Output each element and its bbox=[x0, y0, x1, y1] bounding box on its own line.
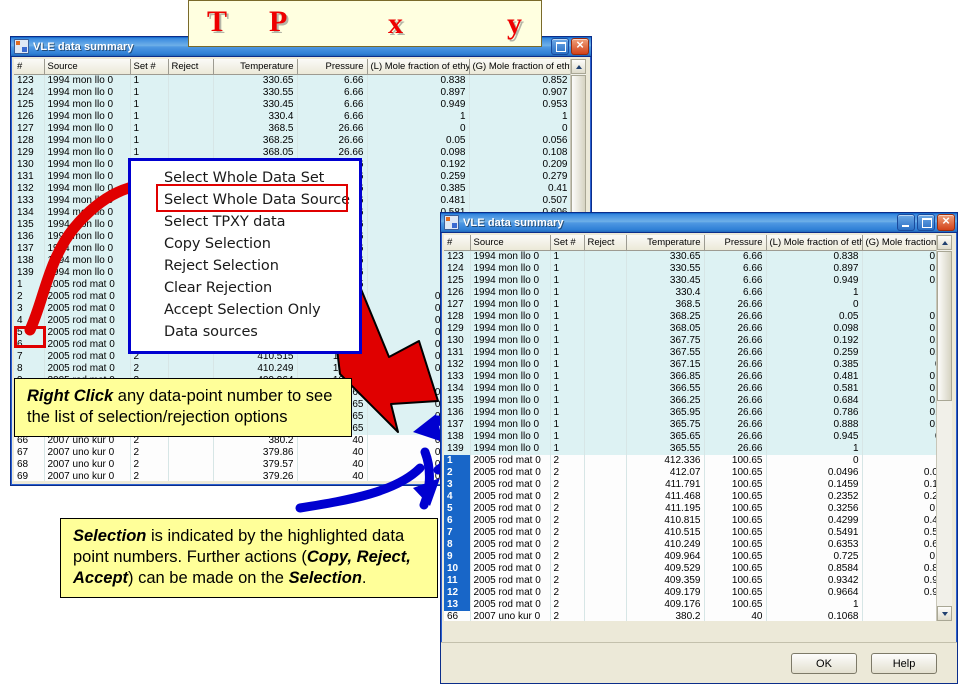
cell-set-number[interactable]: 2 bbox=[550, 611, 584, 621]
cell-temperature[interactable]: 380.2 bbox=[626, 611, 704, 621]
cell-pressure[interactable]: 26.66 bbox=[704, 311, 766, 323]
menu-item-reject-selection[interactable]: Reject Selection bbox=[131, 255, 359, 277]
cell-temperature[interactable]: 366.25 bbox=[626, 395, 704, 407]
cell-source[interactable]: 2005 rod mat 0 bbox=[470, 587, 550, 599]
scroll-down-icon[interactable] bbox=[937, 606, 952, 621]
table-row[interactable]: 1261994 mon llo 01330.46.6611 bbox=[14, 111, 571, 123]
cell-temperature[interactable]: 330.55 bbox=[626, 263, 704, 275]
cell-liquid-mole-fraction[interactable]: 0.897 bbox=[766, 263, 862, 275]
cell-liquid-mole-fraction[interactable]: 0.838 bbox=[766, 251, 862, 264]
cell-source[interactable]: 2005 rod mat 0 bbox=[470, 563, 550, 575]
column-header-temperature[interactable]: Temperature bbox=[213, 59, 297, 75]
cell-row-number[interactable]: 135 bbox=[14, 219, 44, 231]
cell-liquid-mole-fraction[interactable]: 0.2352 bbox=[766, 491, 862, 503]
cell-liquid-mole-fraction[interactable]: 0.9664 bbox=[766, 587, 862, 599]
cell-set-number[interactable]: 1 bbox=[550, 275, 584, 287]
cell-set-number[interactable]: 1 bbox=[550, 299, 584, 311]
cell-liquid-mole-fraction[interactable]: 0.192 bbox=[766, 335, 862, 347]
column-header-[interactable]: # bbox=[444, 235, 470, 251]
cell-reject-flag[interactable] bbox=[168, 363, 213, 375]
cell-temperature[interactable]: 412.336 bbox=[626, 455, 704, 467]
cell-temperature[interactable]: 409.176 bbox=[626, 599, 704, 611]
cell-row-number[interactable]: 3 bbox=[14, 303, 44, 315]
cell-set-number[interactable]: 2 bbox=[130, 447, 168, 459]
cell-pressure[interactable]: 6.66 bbox=[297, 87, 367, 99]
vertical-scrollbar-front[interactable] bbox=[936, 235, 952, 621]
cell-temperature[interactable]: 330.45 bbox=[626, 275, 704, 287]
menu-item-select-whole-data-source[interactable]: Select Whole Data Source bbox=[131, 189, 359, 211]
cell-reject-flag[interactable] bbox=[168, 459, 213, 471]
menu-item-copy-selection[interactable]: Copy Selection bbox=[131, 233, 359, 255]
cell-set-number[interactable]: 2 bbox=[550, 527, 584, 539]
cell-liquid-mole-fraction[interactable]: 0.888 bbox=[766, 419, 862, 431]
cell-set-number[interactable]: 1 bbox=[550, 395, 584, 407]
cell-reject-flag[interactable] bbox=[168, 75, 213, 88]
cell-reject-flag[interactable] bbox=[584, 611, 626, 621]
cell-reject-flag[interactable] bbox=[584, 491, 626, 503]
cell-pressure[interactable]: 100.65 bbox=[704, 503, 766, 515]
cell-row-number[interactable]: 3 bbox=[444, 479, 470, 491]
cell-source[interactable]: 1994 mon llo 0 bbox=[470, 311, 550, 323]
cell-pressure[interactable]: 26.66 bbox=[704, 347, 766, 359]
cell-liquid-mole-fraction[interactable]: 0.385 bbox=[766, 359, 862, 371]
cell-temperature[interactable]: 379.26 bbox=[213, 471, 297, 481]
cell-reject-flag[interactable] bbox=[584, 539, 626, 551]
cell-source[interactable]: 2005 rod mat 0 bbox=[44, 339, 130, 351]
cell-set-number[interactable]: 2 bbox=[550, 539, 584, 551]
cell-reject-flag[interactable] bbox=[584, 383, 626, 395]
cell-temperature[interactable]: 365.65 bbox=[626, 431, 704, 443]
cell-reject-flag[interactable] bbox=[168, 135, 213, 147]
table-row[interactable]: 1341994 mon llo 01366.5526.660.5810.606 bbox=[444, 383, 952, 395]
cell-gas-mole-fraction[interactable]: 0.507 bbox=[469, 195, 571, 207]
cell-temperature[interactable]: 409.529 bbox=[626, 563, 704, 575]
cell-row-number[interactable]: 124 bbox=[444, 263, 470, 275]
cell-temperature[interactable]: 330.45 bbox=[213, 99, 297, 111]
cell-row-number[interactable]: 4 bbox=[444, 491, 470, 503]
cell-row-number[interactable]: 68 bbox=[14, 459, 44, 471]
help-button[interactable]: Help bbox=[871, 653, 937, 674]
cell-source[interactable]: 1994 mon llo 0 bbox=[470, 371, 550, 383]
cell-row-number[interactable]: 134 bbox=[14, 207, 44, 219]
cell-row-number[interactable]: 2 bbox=[14, 291, 44, 303]
cell-temperature[interactable]: 365.75 bbox=[626, 419, 704, 431]
table-row[interactable]: 1321994 mon llo 01367.1526.660.3850.41 bbox=[444, 359, 952, 371]
table-row[interactable]: 72005 rod mat 02410.515100.650.54910.557… bbox=[444, 527, 952, 539]
cell-pressure[interactable]: 6.66 bbox=[704, 287, 766, 299]
cell-source[interactable]: 1994 mon llo 0 bbox=[470, 251, 550, 264]
cell-liquid-mole-fraction[interactable]: 0.481 bbox=[367, 195, 469, 207]
cell-pressure[interactable]: 6.66 bbox=[704, 251, 766, 264]
table-row[interactable]: 32005 rod mat 02411.791100.650.14590.149… bbox=[444, 479, 952, 491]
cell-source[interactable]: 1994 mon llo 0 bbox=[470, 299, 550, 311]
cell-source[interactable]: 2005 rod mat 0 bbox=[44, 315, 130, 327]
cell-row-number[interactable]: 7 bbox=[14, 351, 44, 363]
cell-row-number[interactable]: 134 bbox=[444, 383, 470, 395]
cell-set-number[interactable]: 2 bbox=[130, 471, 168, 481]
cell-liquid-mole-fraction[interactable]: 0.192 bbox=[367, 159, 469, 171]
minimize-button[interactable] bbox=[897, 214, 915, 231]
cell-temperature[interactable]: 379.86 bbox=[213, 447, 297, 459]
cell-set-number[interactable]: 1 bbox=[550, 431, 584, 443]
cell-liquid-mole-fraction[interactable]: 0.949 bbox=[367, 99, 469, 111]
cell-liquid-mole-fraction[interactable]: 0.05 bbox=[766, 311, 862, 323]
menu-item-accept-selection-only[interactable]: Accept Selection Only bbox=[131, 299, 359, 321]
cell-temperature[interactable]: 368.5 bbox=[626, 299, 704, 311]
cell-source[interactable]: 2005 rod mat 0 bbox=[470, 575, 550, 587]
cell-liquid-mole-fraction[interactable]: 0.3256 bbox=[766, 503, 862, 515]
cell-source[interactable]: 1994 mon llo 0 bbox=[470, 395, 550, 407]
cell-liquid-mole-fraction[interactable]: 0.385 bbox=[367, 183, 469, 195]
cell-row-number[interactable]: 136 bbox=[14, 231, 44, 243]
cell-liquid-mole-fraction[interactable]: 0.4299 bbox=[766, 515, 862, 527]
cell-row-number[interactable]: 131 bbox=[444, 347, 470, 359]
cell-pressure[interactable]: 100.65 bbox=[704, 515, 766, 527]
column-header-source[interactable]: Source bbox=[44, 59, 130, 75]
cell-set-number[interactable]: 1 bbox=[550, 383, 584, 395]
cell-reject-flag[interactable] bbox=[168, 87, 213, 99]
cell-reject-flag[interactable] bbox=[584, 527, 626, 539]
cell-source[interactable]: 1994 mon llo 0 bbox=[470, 347, 550, 359]
cell-temperature[interactable]: 409.359 bbox=[626, 575, 704, 587]
cell-row-number[interactable]: 123 bbox=[14, 75, 44, 88]
cell-source[interactable]: 2005 rod mat 0 bbox=[470, 503, 550, 515]
scroll-up-icon[interactable] bbox=[937, 235, 952, 250]
cell-source[interactable]: 2007 uno kur 0 bbox=[44, 447, 130, 459]
data-grid-front[interactable]: #SourceSet #RejectTemperaturePressure(L)… bbox=[444, 235, 952, 621]
cell-temperature[interactable]: 330.65 bbox=[626, 251, 704, 264]
cell-pressure[interactable]: 100.65 bbox=[704, 587, 766, 599]
cell-source[interactable]: 1994 mon llo 0 bbox=[44, 75, 130, 88]
cell-liquid-mole-fraction[interactable]: 0.098 bbox=[367, 147, 469, 159]
cell-pressure[interactable]: 100.65 bbox=[704, 491, 766, 503]
table-row[interactable]: 132005 rod mat 02409.176100.6511 bbox=[444, 599, 952, 611]
cell-liquid-mole-fraction[interactable]: 0.786 bbox=[766, 407, 862, 419]
cell-temperature[interactable]: 330.4 bbox=[626, 287, 704, 299]
cell-reject-flag[interactable] bbox=[584, 323, 626, 335]
cell-set-number[interactable]: 2 bbox=[550, 551, 584, 563]
cell-set-number[interactable]: 1 bbox=[550, 287, 584, 299]
cell-source[interactable]: 1994 mon llo 0 bbox=[470, 407, 550, 419]
cell-source[interactable]: 2005 rod mat 0 bbox=[44, 279, 130, 291]
cell-liquid-mole-fraction[interactable]: 0.725 bbox=[766, 551, 862, 563]
column-header-pressure[interactable]: Pressure bbox=[704, 235, 766, 251]
column-header-temperature[interactable]: Temperature bbox=[626, 235, 704, 251]
cell-liquid-mole-fraction[interactable]: 0.1459 bbox=[766, 479, 862, 491]
cell-source[interactable]: 1994 mon llo 0 bbox=[44, 255, 130, 267]
cell-liquid-mole-fraction[interactable]: 0.838 bbox=[367, 75, 469, 88]
table-row[interactable]: 42005 rod mat 02411.468100.650.23520.249… bbox=[444, 491, 952, 503]
cell-row-number[interactable]: 10 bbox=[444, 563, 470, 575]
cell-pressure[interactable]: 40 bbox=[704, 611, 766, 621]
cell-reject-flag[interactable] bbox=[584, 371, 626, 383]
cell-gas-mole-fraction[interactable]: 0.852 bbox=[469, 75, 571, 88]
cell-row-number[interactable]: 130 bbox=[444, 335, 470, 347]
cell-liquid-mole-fraction[interactable]: 1 bbox=[367, 111, 469, 123]
cell-liquid-mole-fraction[interactable]: 1 bbox=[766, 599, 862, 611]
cell-row-number[interactable]: 128 bbox=[444, 311, 470, 323]
cell-source[interactable]: 2005 rod mat 0 bbox=[44, 327, 130, 339]
context-menu[interactable]: Select Whole Data SetSelect Whole Data S… bbox=[128, 158, 362, 354]
cell-source[interactable]: 1994 mon llo 0 bbox=[470, 431, 550, 443]
table-row[interactable]: 122005 rod mat 02409.179100.650.96640.96… bbox=[444, 587, 952, 599]
cell-set-number[interactable]: 1 bbox=[130, 135, 168, 147]
table-row[interactable]: 1391994 mon llo 01365.5526.6611 bbox=[444, 443, 952, 455]
cell-source[interactable]: 1994 mon llo 0 bbox=[44, 267, 130, 279]
column-header-l-mole-fraction-of-ethylbenzene[interactable]: (L) Mole fraction of ethylbenzene bbox=[367, 59, 469, 75]
cell-reject-flag[interactable] bbox=[584, 287, 626, 299]
cell-liquid-mole-fraction[interactable]: 0.949 bbox=[766, 275, 862, 287]
cell-reject-flag[interactable] bbox=[584, 503, 626, 515]
scroll-up-icon[interactable] bbox=[571, 59, 586, 74]
cell-pressure[interactable]: 100.65 bbox=[704, 563, 766, 575]
cell-temperature[interactable]: 366.85 bbox=[626, 371, 704, 383]
table-row[interactable]: 1281994 mon llo 01368.2526.660.050.056 bbox=[14, 135, 571, 147]
cell-set-number[interactable]: 1 bbox=[130, 111, 168, 123]
cell-source[interactable]: 2005 rod mat 0 bbox=[44, 363, 130, 375]
cell-set-number[interactable]: 2 bbox=[550, 587, 584, 599]
cell-temperature[interactable]: 411.468 bbox=[626, 491, 704, 503]
cell-source[interactable]: 2005 rod mat 0 bbox=[470, 599, 550, 611]
cell-row-number[interactable]: 126 bbox=[444, 287, 470, 299]
cell-source[interactable]: 2007 uno kur 0 bbox=[44, 471, 130, 481]
cell-pressure[interactable]: 40 bbox=[297, 471, 367, 481]
cell-row-number[interactable]: 8 bbox=[14, 363, 44, 375]
cell-liquid-mole-fraction[interactable]: 0.0496 bbox=[766, 467, 862, 479]
cell-temperature[interactable]: 410.815 bbox=[626, 515, 704, 527]
cell-temperature[interactable]: 330.4 bbox=[213, 111, 297, 123]
cell-reject-flag[interactable] bbox=[584, 251, 626, 264]
cell-row-number[interactable]: 9 bbox=[444, 551, 470, 563]
cell-source[interactable]: 2007 uno kur 0 bbox=[44, 459, 130, 471]
cell-source[interactable]: 2005 rod mat 0 bbox=[470, 491, 550, 503]
cell-source[interactable]: 2005 rod mat 0 bbox=[470, 515, 550, 527]
cell-liquid-mole-fraction[interactable]: 0.6353 bbox=[766, 539, 862, 551]
cell-reject-flag[interactable] bbox=[584, 599, 626, 611]
close-icon[interactable] bbox=[571, 38, 589, 55]
cell-source[interactable]: 2007 uno kur 0 bbox=[470, 611, 550, 621]
cell-row-number[interactable]: 125 bbox=[14, 99, 44, 111]
column-header-set[interactable]: Set # bbox=[130, 59, 168, 75]
cell-temperature[interactable]: 367.15 bbox=[626, 359, 704, 371]
vle-data-summary-window-front[interactable]: VLE data summary #SourceSet #RejectTempe… bbox=[440, 212, 958, 684]
cell-reject-flag[interactable] bbox=[584, 311, 626, 323]
cell-row-number[interactable]: 124 bbox=[14, 87, 44, 99]
cell-temperature[interactable]: 368.5 bbox=[213, 123, 297, 135]
table-row[interactable]: 1291994 mon llo 01368.0526.660.0980.108 bbox=[444, 323, 952, 335]
cell-pressure[interactable]: 100.65 bbox=[704, 599, 766, 611]
cell-row-number[interactable]: 137 bbox=[14, 243, 44, 255]
cell-row-number[interactable]: 123 bbox=[444, 251, 470, 264]
column-header-g-mole-fraction-of-ethylbenzene[interactable]: (G) Mole fraction of ethylbenzene bbox=[469, 59, 571, 75]
cell-set-number[interactable]: 2 bbox=[130, 459, 168, 471]
menu-item-clear-rejection[interactable]: Clear Rejection bbox=[131, 277, 359, 299]
cell-source[interactable]: 2005 rod mat 0 bbox=[470, 467, 550, 479]
cell-pressure[interactable]: 26.66 bbox=[297, 135, 367, 147]
table-row[interactable]: 662007 uno kur 02380.2400.1068 bbox=[444, 611, 952, 621]
cell-temperature[interactable]: 368.25 bbox=[213, 135, 297, 147]
cell-source[interactable]: 1994 mon llo 0 bbox=[44, 123, 130, 135]
menu-item-select-tpxy-data[interactable]: Select TPXY data bbox=[131, 211, 359, 233]
cell-row-number[interactable]: 1 bbox=[14, 279, 44, 291]
cell-row-number[interactable]: 6 bbox=[444, 515, 470, 527]
cell-row-number[interactable]: 135 bbox=[444, 395, 470, 407]
cell-row-number[interactable]: 126 bbox=[14, 111, 44, 123]
table-row[interactable]: 1241994 mon llo 01330.556.660.8970.907 bbox=[14, 87, 571, 99]
cell-row-number[interactable]: 67 bbox=[14, 447, 44, 459]
cell-row-number[interactable]: 13 bbox=[444, 599, 470, 611]
cell-set-number[interactable]: 1 bbox=[550, 251, 584, 264]
cell-source[interactable]: 1994 mon llo 0 bbox=[44, 147, 130, 159]
cell-source[interactable]: 1994 mon llo 0 bbox=[44, 87, 130, 99]
cell-reject-flag[interactable] bbox=[168, 123, 213, 135]
cell-liquid-mole-fraction[interactable]: 1 bbox=[766, 443, 862, 455]
cell-pressure[interactable]: 6.66 bbox=[704, 263, 766, 275]
cell-liquid-mole-fraction[interactable]: 0.1068 bbox=[766, 611, 862, 621]
cell-set-number[interactable]: 1 bbox=[130, 99, 168, 111]
cell-set-number[interactable]: 2 bbox=[550, 491, 584, 503]
cell-source[interactable]: 2005 rod mat 0 bbox=[470, 479, 550, 491]
cell-reject-flag[interactable] bbox=[584, 275, 626, 287]
cell-set-number[interactable]: 2 bbox=[550, 575, 584, 587]
cell-gas-mole-fraction[interactable]: 0.108 bbox=[469, 147, 571, 159]
cell-temperature[interactable]: 411.195 bbox=[626, 503, 704, 515]
cell-pressure[interactable]: 100.65 bbox=[704, 479, 766, 491]
cell-source[interactable]: 2005 rod mat 0 bbox=[44, 291, 130, 303]
cell-source[interactable]: 1994 mon llo 0 bbox=[470, 335, 550, 347]
cell-set-number[interactable]: 1 bbox=[550, 323, 584, 335]
cell-pressure[interactable]: 100.65 bbox=[704, 539, 766, 551]
cell-source[interactable]: 1994 mon llo 0 bbox=[44, 159, 130, 171]
scrollbar-thumb[interactable] bbox=[937, 251, 952, 401]
cell-row-number[interactable]: 138 bbox=[444, 431, 470, 443]
cell-reject-flag[interactable] bbox=[584, 359, 626, 371]
table-row[interactable]: 1331994 mon llo 01366.8526.660.4810.507 bbox=[444, 371, 952, 383]
cell-set-number[interactable]: 2 bbox=[550, 455, 584, 467]
cell-temperature[interactable]: 365.55 bbox=[626, 443, 704, 455]
table-row[interactable]: 1261994 mon llo 01330.46.6611 bbox=[444, 287, 952, 299]
table-row[interactable]: 1351994 mon llo 01366.2526.660.6840.704 bbox=[444, 395, 952, 407]
cell-set-number[interactable]: 2 bbox=[550, 467, 584, 479]
cell-source[interactable]: 1994 mon llo 0 bbox=[44, 111, 130, 123]
cell-reject-flag[interactable] bbox=[584, 335, 626, 347]
cell-source[interactable]: 2005 rod mat 0 bbox=[44, 351, 130, 363]
cell-reject-flag[interactable] bbox=[168, 447, 213, 459]
cell-liquid-mole-fraction[interactable]: 0.945 bbox=[766, 431, 862, 443]
cell-temperature[interactable]: 366.55 bbox=[626, 383, 704, 395]
table-row[interactable]: 1241994 mon llo 01330.556.660.8970.907 bbox=[444, 263, 952, 275]
cell-row-number[interactable]: 133 bbox=[14, 195, 44, 207]
cell-source[interactable]: 2005 rod mat 0 bbox=[470, 455, 550, 467]
cell-reject-flag[interactable] bbox=[584, 263, 626, 275]
cell-row-number[interactable]: 132 bbox=[14, 183, 44, 195]
cell-set-number[interactable]: 1 bbox=[550, 311, 584, 323]
column-header-l-mole-fraction-of-ethylbenzene[interactable]: (L) Mole fraction of ethylbenzene bbox=[766, 235, 862, 251]
cell-liquid-mole-fraction[interactable]: 0.8584 bbox=[766, 563, 862, 575]
cell-pressure[interactable]: 100.65 bbox=[704, 467, 766, 479]
cell-row-number[interactable]: 131 bbox=[14, 171, 44, 183]
table-row[interactable]: 1231994 mon llo 01330.656.660.8380.852 bbox=[444, 251, 952, 264]
cell-reject-flag[interactable] bbox=[584, 467, 626, 479]
titlebar-front[interactable]: VLE data summary bbox=[441, 213, 957, 233]
cell-source[interactable]: 1994 mon llo 0 bbox=[44, 171, 130, 183]
cell-row-number[interactable]: 138 bbox=[14, 255, 44, 267]
cell-liquid-mole-fraction[interactable]: 0.9342 bbox=[766, 575, 862, 587]
cell-reject-flag[interactable] bbox=[584, 575, 626, 587]
cell-pressure[interactable]: 100.65 bbox=[704, 575, 766, 587]
cell-gas-mole-fraction[interactable]: 0.953 bbox=[469, 99, 571, 111]
cell-source[interactable]: 1994 mon llo 0 bbox=[44, 183, 130, 195]
column-header-source[interactable]: Source bbox=[470, 235, 550, 251]
cell-gas-mole-fraction[interactable]: 1 bbox=[469, 111, 571, 123]
cell-liquid-mole-fraction[interactable]: 0.259 bbox=[766, 347, 862, 359]
cell-row-number[interactable]: 1 bbox=[444, 455, 470, 467]
cell-source[interactable]: 1994 mon llo 0 bbox=[470, 287, 550, 299]
cell-pressure[interactable]: 26.66 bbox=[704, 431, 766, 443]
table-row[interactable]: 22005 rod mat 02412.07100.650.04960.0541 bbox=[444, 467, 952, 479]
cell-row-number[interactable]: 127 bbox=[444, 299, 470, 311]
cell-reject-flag[interactable] bbox=[168, 111, 213, 123]
cell-source[interactable]: 1994 mon llo 0 bbox=[470, 275, 550, 287]
cell-source[interactable]: 2005 rod mat 0 bbox=[470, 551, 550, 563]
maximize-button[interactable] bbox=[551, 38, 569, 55]
table-row[interactable]: 12005 rod mat 02412.336100.6500 bbox=[444, 455, 952, 467]
cell-row-number[interactable]: 7 bbox=[444, 527, 470, 539]
cell-reject-flag[interactable] bbox=[584, 515, 626, 527]
cell-reject-flag[interactable] bbox=[584, 347, 626, 359]
cell-row-number[interactable]: 11 bbox=[444, 575, 470, 587]
table-row[interactable]: 62005 rod mat 02410.815100.650.42990.436… bbox=[444, 515, 952, 527]
table-row[interactable]: 1271994 mon llo 01368.526.6600 bbox=[14, 123, 571, 135]
cell-reject-flag[interactable] bbox=[584, 455, 626, 467]
cell-temperature[interactable]: 367.75 bbox=[626, 335, 704, 347]
cell-gas-mole-fraction[interactable]: 0.279 bbox=[469, 171, 571, 183]
table-row[interactable]: 1371994 mon llo 01365.7526.660.8880.897 bbox=[444, 419, 952, 431]
cell-temperature[interactable]: 410.249 bbox=[213, 363, 297, 375]
cell-source[interactable]: 1994 mon llo 0 bbox=[44, 99, 130, 111]
column-header-pressure[interactable]: Pressure bbox=[297, 59, 367, 75]
cell-temperature[interactable]: 365.95 bbox=[626, 407, 704, 419]
cell-gas-mole-fraction[interactable]: 0.41 bbox=[469, 183, 571, 195]
table-row[interactable]: 102005 rod mat 02409.529100.650.85840.86… bbox=[444, 563, 952, 575]
cell-set-number[interactable]: 2 bbox=[550, 599, 584, 611]
cell-liquid-mole-fraction[interactable]: 0.098 bbox=[766, 323, 862, 335]
cell-reject-flag[interactable] bbox=[584, 395, 626, 407]
table-row[interactable]: 1301994 mon llo 01367.7526.660.1920.209 bbox=[444, 335, 952, 347]
cell-pressure[interactable]: 6.66 bbox=[297, 111, 367, 123]
cell-liquid-mole-fraction[interactable]: 0 bbox=[766, 455, 862, 467]
cell-set-number[interactable]: 2 bbox=[550, 563, 584, 575]
cell-pressure[interactable]: 26.66 bbox=[704, 299, 766, 311]
cell-row-number[interactable]: 129 bbox=[444, 323, 470, 335]
cell-row-number[interactable]: 69 bbox=[14, 471, 44, 481]
cell-source[interactable]: 2005 rod mat 0 bbox=[470, 539, 550, 551]
cell-gas-mole-fraction[interactable]: 0.056 bbox=[469, 135, 571, 147]
cell-set-number[interactable]: 1 bbox=[550, 263, 584, 275]
cell-pressure[interactable]: 6.66 bbox=[297, 99, 367, 111]
cell-pressure[interactable]: 6.66 bbox=[297, 75, 367, 88]
cell-liquid-mole-fraction[interactable]: 0.05 bbox=[367, 135, 469, 147]
cell-source[interactable]: 1994 mon llo 0 bbox=[44, 195, 130, 207]
table-row[interactable]: 1251994 mon llo 01330.456.660.9490.953 bbox=[14, 99, 571, 111]
cell-pressure[interactable]: 100.65 bbox=[704, 455, 766, 467]
table-row[interactable]: 1231994 mon llo 01330.656.660.8380.852 bbox=[14, 75, 571, 88]
cell-reject-flag[interactable] bbox=[168, 99, 213, 111]
menu-item-select-whole-data-set[interactable]: Select Whole Data Set bbox=[131, 167, 359, 189]
cell-set-number[interactable]: 1 bbox=[550, 347, 584, 359]
cell-temperature[interactable]: 368.25 bbox=[626, 311, 704, 323]
cell-temperature[interactable]: 411.791 bbox=[626, 479, 704, 491]
